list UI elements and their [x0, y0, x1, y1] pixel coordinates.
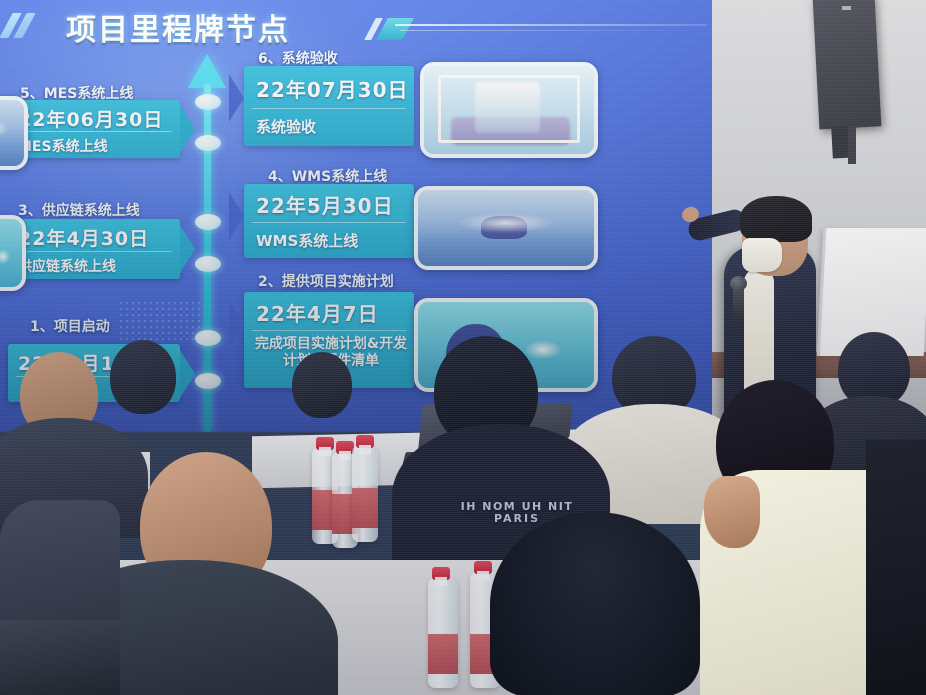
speaker-bracket-arm	[848, 126, 856, 164]
foreground-shoulder-left-edge	[0, 620, 120, 695]
microphone-head	[730, 276, 747, 291]
water-bottle	[352, 446, 378, 542]
presenter-hair	[740, 196, 812, 242]
audience-head	[110, 340, 176, 414]
projection-screen: 项目里程牌节点 5、MES系统上线 22年06月30日 MES系统上线 3、供应…	[0, 0, 712, 432]
audience-long-hair-foreground	[490, 512, 700, 695]
audience-hand-on-chin	[704, 476, 760, 548]
speaker-indicator-icon	[842, 6, 851, 10]
presenter-face-mask	[742, 238, 782, 272]
water-bottle	[428, 578, 458, 688]
screenshot-root: 项目里程牌节点 5、MES系统上线 22年06月30日 MES系统上线 3、供应…	[0, 0, 926, 695]
audience-dark-shoulder-right	[866, 440, 926, 695]
audience-head	[292, 352, 352, 418]
wall-speaker	[813, 0, 882, 130]
